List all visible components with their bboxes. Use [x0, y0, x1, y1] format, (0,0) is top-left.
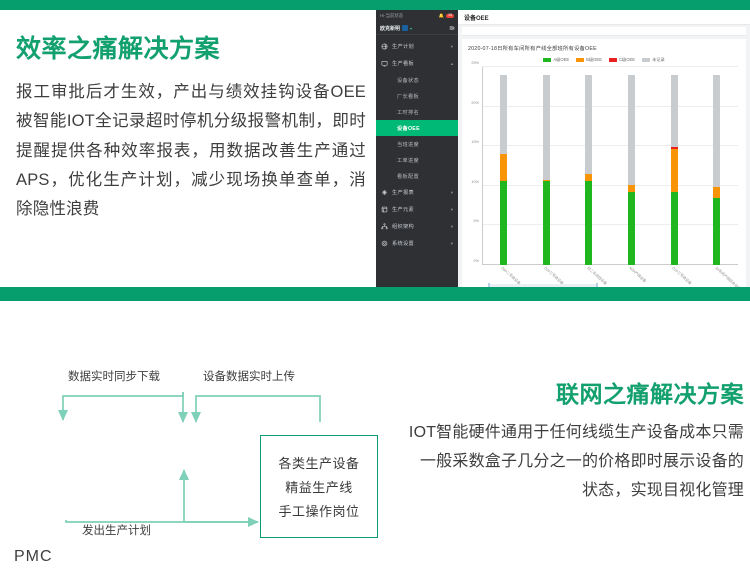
bar-column[interactable]	[610, 67, 653, 265]
bar-segment	[585, 75, 592, 174]
sidebar-item-board-config[interactable]: 看板配置	[376, 168, 458, 184]
chevron-down-icon[interactable]: ▾	[410, 26, 412, 31]
sidebar-item-system-settings[interactable]: 系统设置 ▾	[376, 235, 458, 252]
production-targets-box: 各类生产设备 精益生产线 手工操作岗位	[260, 435, 378, 538]
filter-bar[interactable]	[462, 27, 746, 36]
chevron-down-icon: ▾	[451, 44, 453, 50]
y-tick-label: 10%	[471, 180, 479, 184]
bar-segment	[500, 75, 507, 154]
legend-item[interactable]: B级OEE	[576, 57, 602, 63]
sidebar-label: 生产报表	[392, 189, 447, 196]
label-plan: 发出生产计划	[82, 522, 151, 538]
dashboard-sidebar: Hi-当前状态 🔔 15 欧克新明 ▾ ≣‹	[376, 10, 458, 287]
sidebar-item-production-report[interactable]: 生产报表 ▾	[376, 184, 458, 201]
stacked-bar	[713, 75, 720, 265]
gear-icon	[381, 240, 388, 247]
notification-badge[interactable]: 15	[446, 14, 454, 19]
top-green-rule	[0, 0, 750, 10]
legend-label: B级OEE	[586, 57, 602, 63]
sidebar-label: 组织架构	[392, 223, 447, 230]
sidebar-label: 系统设置	[392, 240, 447, 247]
bar-segment	[713, 187, 720, 197]
sidebar-label: 生产元素	[392, 206, 447, 213]
bar-column[interactable]	[695, 67, 738, 265]
status-text: Hi-当前状态	[380, 13, 403, 19]
y-tick-label: 20%	[471, 101, 479, 105]
bar-segment	[500, 154, 507, 181]
efficiency-body: 报工审批后才生效，产出与绩效挂钩设备OEE被智能IOT全记录超时停机分级报警机制…	[16, 78, 366, 225]
legend-swatch	[642, 58, 650, 62]
stacked-bar	[585, 75, 592, 265]
bar-segment	[628, 192, 635, 265]
page-title: 设备OEE	[458, 10, 750, 25]
legend-label: 未记录	[652, 57, 665, 63]
iot-flow-diagram: 数据实时同步下载 设备数据实时上传 发出生产计划 PMC	[0, 310, 420, 587]
avatar	[402, 25, 408, 31]
legend-swatch	[576, 58, 584, 62]
sidebar-label: 生产看板	[392, 60, 447, 67]
bar-column[interactable]	[653, 67, 696, 265]
org-icon	[381, 223, 388, 230]
box-line-1: 各类生产设备	[278, 453, 359, 472]
sidebar-item-production-element[interactable]: 生产元素 ▾	[376, 201, 458, 218]
legend-item[interactable]: C级OEE	[609, 57, 635, 63]
sidebar-item-factory-board[interactable]: 厂长看板	[376, 88, 458, 104]
chart-plot: 0%5%10%15%20%25% D6#二号线设备D2#三号线设备拉二车间线设备…	[468, 67, 740, 287]
oee-chart-card: 2020-07-18日所有车间所有产线全部班所有设备OEE A级OEEB级OEE…	[462, 39, 746, 287]
network-section: 联网之痛解决方案 IOT智能硬件通用于任何线缆生产设备成本只需一般采数盒子几分之…	[408, 375, 744, 505]
y-tick-label: 5%	[474, 219, 480, 223]
sidebar-item-device-oee[interactable]: 设备OEE	[376, 120, 458, 136]
label-download: 数据实时同步下载	[68, 368, 160, 384]
bar-segment	[543, 181, 550, 265]
legend-item[interactable]: A级OEE	[543, 57, 569, 63]
label-upload: 设备数据实时上传	[203, 368, 295, 384]
stacked-bar	[543, 75, 550, 265]
network-title: 联网之痛解决方案	[408, 375, 744, 409]
chart-legend: A级OEEB级OEEC级OEE未记录	[468, 57, 740, 63]
box-line-3: 手工操作岗位	[278, 501, 359, 520]
chevron-down-icon: ▾	[451, 207, 453, 213]
chart-icon	[381, 189, 388, 196]
bar-segment	[671, 75, 678, 147]
y-tick-label: 15%	[471, 140, 479, 144]
legend-label: A级OEE	[553, 57, 569, 63]
bar-segment	[671, 192, 678, 265]
efficiency-section: 效率之痛解决方案 报工审批后才生效，产出与绩效挂钩设备OEE被智能IOT全记录超…	[16, 34, 366, 225]
sidebar-item-production-board[interactable]: 生产看板 ▴	[376, 55, 458, 72]
y-tick-label: 0%	[474, 259, 480, 263]
sidebar-item-org-structure[interactable]: 组织架构 ▾	[376, 218, 458, 235]
bar-segment	[713, 198, 720, 265]
page-root: 效率之痛解决方案 报工审批后才生效，产出与绩效挂钩设备OEE被智能IOT全记录超…	[0, 0, 750, 587]
chevron-down-icon: ▾	[451, 190, 453, 196]
collapse-menu-icon[interactable]: ≣‹	[449, 25, 454, 32]
x-tick-label: M3#产线设备	[628, 266, 647, 284]
globe-icon	[381, 43, 388, 50]
bar-segment	[713, 75, 720, 187]
chevron-up-icon: ▴	[451, 61, 453, 67]
dashboard-screenshot: Hi-当前状态 🔔 15 欧克新明 ▾ ≣‹	[376, 10, 750, 287]
legend-item[interactable]: 未记录	[642, 57, 665, 63]
box-icon	[381, 206, 388, 213]
monitor-icon	[381, 60, 388, 67]
bar-segment	[628, 75, 635, 185]
network-body: IOT智能硬件通用于任何线缆生产设备成本只需一般采数盒子几分之一的价格即时展示设…	[408, 419, 744, 505]
stacked-bar	[671, 75, 678, 265]
bar-column[interactable]	[525, 67, 568, 265]
middle-green-rule	[0, 287, 750, 301]
user-name: 欧克新明	[380, 25, 400, 32]
label-pmc: PMC	[14, 548, 53, 566]
bar-column[interactable]	[482, 67, 525, 265]
chevron-down-icon: ▾	[451, 224, 453, 230]
sidebar-item-order-progress[interactable]: 工单进度	[376, 152, 458, 168]
chart-title: 2020-07-18日所有车间所有产线全部班所有设备OEE	[468, 44, 740, 52]
bar-segment	[628, 185, 635, 192]
stacked-bar	[628, 75, 635, 265]
bar-segment	[500, 181, 507, 265]
legend-swatch	[543, 58, 551, 62]
bar-segment	[671, 149, 678, 192]
dashboard-content: 设备OEE 2020-07-18日所有车间所有产线全部班所有设备OEE A级OE…	[458, 10, 750, 287]
sidebar-label: 生产计划	[392, 43, 447, 50]
sidebar-user-row[interactable]: 欧克新明 ▾ ≣‹	[376, 22, 458, 35]
bar-column[interactable]	[567, 67, 610, 265]
bar-series	[482, 67, 738, 265]
sidebar-item-production-plan[interactable]: 生产计划 ▾	[376, 38, 458, 55]
bell-icon[interactable]: 🔔	[439, 13, 444, 19]
y-tick-label: 25%	[471, 61, 479, 65]
bar-segment	[585, 174, 592, 181]
legend-label: C级OEE	[619, 57, 635, 63]
sidebar-item-shift-progress[interactable]: 当班进度	[376, 136, 458, 152]
sidebar-item-device-status[interactable]: 设备状态	[376, 72, 458, 88]
bar-segment	[585, 181, 592, 265]
sidebar-nav: 生产计划 ▾ 生产看板 ▴ 设备状态 厂长看板 工时排名 设备OEE 当班进	[376, 35, 458, 287]
sidebar-item-worktime-rank[interactable]: 工时排名	[376, 104, 458, 120]
stacked-bar	[500, 75, 507, 265]
box-line-2: 精益生产线	[285, 477, 353, 496]
chevron-down-icon: ▾	[451, 241, 453, 247]
x-tick-label: D1#三号线设备	[671, 266, 693, 286]
legend-swatch	[609, 58, 617, 62]
efficiency-title: 效率之痛解决方案	[16, 34, 366, 64]
bar-segment	[543, 75, 550, 180]
x-tick-label: 3#车间产线综合设备	[713, 266, 741, 287]
sidebar-topbar: Hi-当前状态 🔔 15	[376, 10, 458, 22]
y-axis: 0%5%10%15%20%25%	[468, 67, 481, 265]
